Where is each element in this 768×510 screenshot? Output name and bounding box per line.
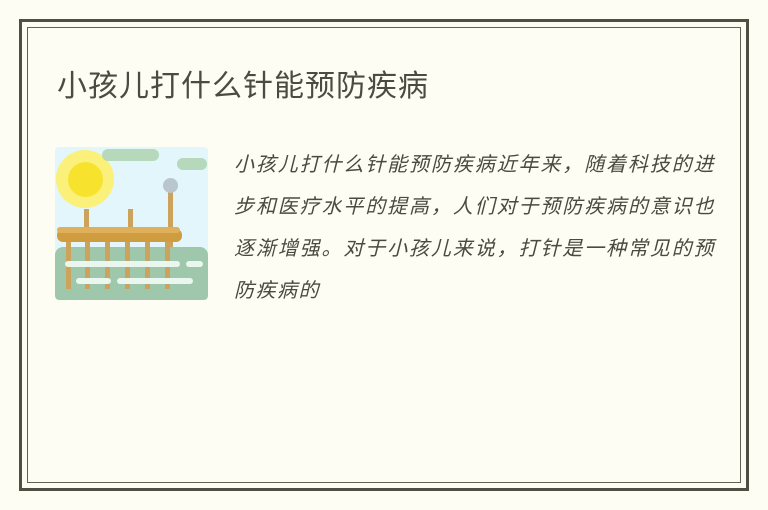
- lamp-post-light-icon: [163, 178, 178, 193]
- cloud-icon-left: [102, 149, 159, 161]
- water-wave-3: [76, 278, 111, 284]
- article-content: 小孩儿打什么针能预防疾病: [27, 27, 741, 483]
- water-wave-2: [186, 261, 203, 267]
- pier-deck-highlight: [57, 227, 180, 233]
- water-wave-4: [117, 278, 193, 284]
- cloud-icon-right: [177, 158, 207, 170]
- page-title: 小孩儿打什么针能预防疾病: [57, 67, 429, 107]
- article-page: 小孩儿打什么针能预防疾病: [0, 0, 768, 510]
- sun-icon: [68, 162, 103, 197]
- article-illustration: [55, 147, 208, 300]
- water-wave-1: [65, 261, 180, 267]
- water-area: [55, 247, 208, 300]
- article-body: 小孩儿打什么针能预防疾病近年来，随着科技的进步和医疗水平的提高，人们对于预防疾病…: [55, 143, 715, 311]
